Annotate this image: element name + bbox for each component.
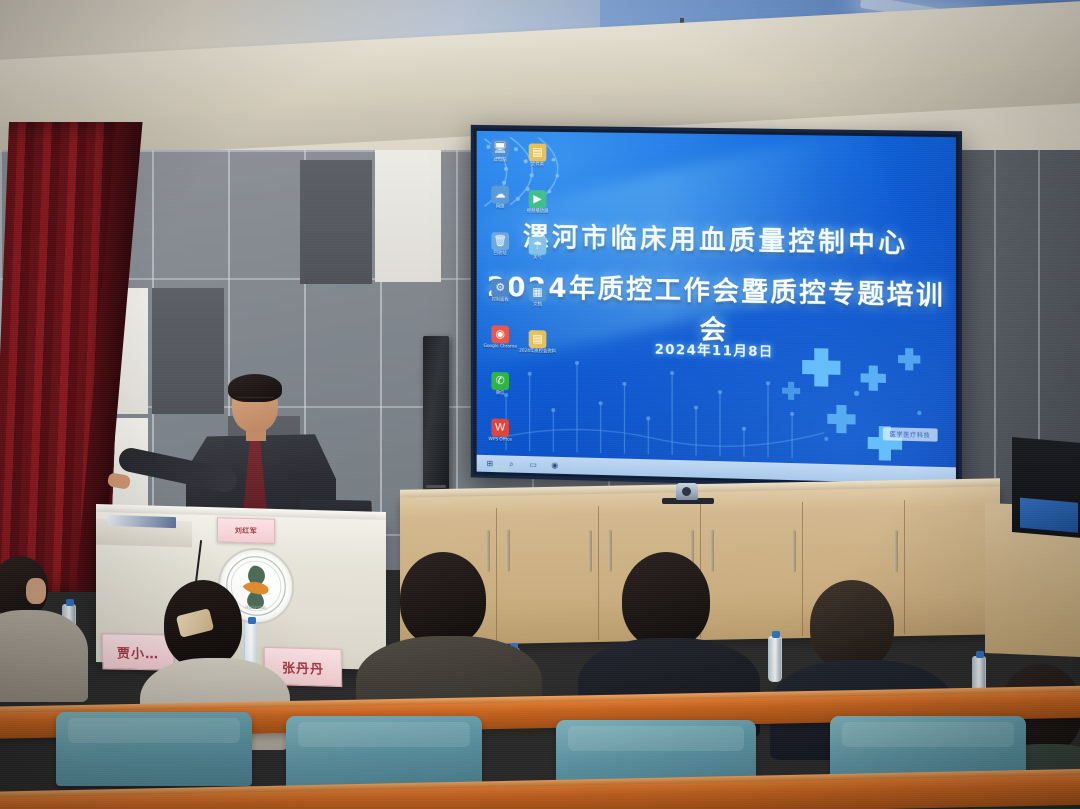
desktop-icon-glyph: 🗑 xyxy=(491,232,509,250)
projection-screen[interactable]: 漯河市临床用血质量控制中心 2024年质控工作会暨质控专题培训会 2024年11… xyxy=(471,125,962,491)
podium-nameplate: 刘红军 xyxy=(217,517,275,544)
person-face xyxy=(26,578,46,604)
desktop-icon[interactable]: ▤文件夹 xyxy=(518,143,557,187)
wall-panel-light xyxy=(375,150,441,282)
taskview-icon[interactable]: ▭ xyxy=(528,459,539,470)
desktop-icon-label: 微信 xyxy=(481,390,520,396)
desktop-icon-glyph: ▤ xyxy=(529,143,547,161)
desktop-icon[interactable]: ☂天气 xyxy=(518,237,557,281)
desktop-icon-label: 此电脑 xyxy=(481,158,520,164)
desktop-icon-glyph: ☁ xyxy=(491,186,509,204)
desktop-icon[interactable]: ▤2024年质控会资料 xyxy=(518,330,557,375)
podium-documents xyxy=(108,515,176,528)
desktop-icon[interactable]: 🗑回收站 xyxy=(481,232,520,276)
desktop-icon[interactable]: ✆微信 xyxy=(481,372,520,417)
desktop-icon-column-right: ▤文件夹▶视频播放器☂天气▦文档▤2024年质控会资料 xyxy=(518,143,557,377)
side-monitor xyxy=(1012,437,1080,538)
desktop-icon[interactable]: ☁网络 xyxy=(481,185,520,229)
audio-speaker-tower xyxy=(423,336,449,494)
desktop-icon-label: 天气 xyxy=(518,255,557,261)
desktop-icon-glyph: ☂ xyxy=(529,237,547,255)
desktop-icon-glyph: ▤ xyxy=(529,330,547,348)
slide-badge: 医学医疗科技 xyxy=(883,427,938,441)
desktop-icon-glyph: ▦ xyxy=(529,283,547,301)
presenter-glasses-icon xyxy=(236,397,274,405)
audience-chair xyxy=(286,716,482,790)
desktop-icon-glyph: ▶ xyxy=(529,190,547,208)
desktop-icon-glyph: ✆ xyxy=(491,372,509,390)
video-conference-camera-icon xyxy=(676,483,698,500)
person-body xyxy=(0,610,88,702)
presentation-slide: 漯河市临床用血质量控制中心 2024年质控工作会暨质控专题培训会 2024年11… xyxy=(477,131,956,485)
desktop-icon[interactable]: ▶视频播放器 xyxy=(518,190,557,234)
desktop-icon-label: WPS Office xyxy=(481,437,520,443)
start-button[interactable]: ⊞ xyxy=(484,458,495,469)
desktop-icon-label: 回收站 xyxy=(481,251,520,257)
person-head xyxy=(400,552,486,646)
desktop-icon-label: 网络 xyxy=(481,204,520,210)
audience-chair xyxy=(56,712,252,786)
desktop-icon-label: Google Chrome xyxy=(481,344,520,350)
desktop-icon-label: 文档 xyxy=(518,302,557,308)
audience-person xyxy=(366,552,534,716)
desktop-icon-column-left: 🖥此电脑☁网络🗑回收站⚙控制面板◉Google Chrome✆微信WWPS Of… xyxy=(481,139,520,485)
desktop-icon-glyph: 🖥 xyxy=(491,139,509,157)
desktop-icon-label: 视频播放器 xyxy=(518,209,557,215)
side-monitor-screen xyxy=(1020,498,1078,533)
desktop-icon-glyph: ⚙ xyxy=(491,279,509,297)
desktop-icon-label: 控制面板 xyxy=(481,297,520,303)
desktop-icon-glyph: ◉ xyxy=(491,325,509,343)
person-head xyxy=(810,580,894,670)
desktop-icon-glyph: W xyxy=(491,418,509,436)
desktop-icon-label: 2024年质控会资料 xyxy=(518,349,557,355)
conference-room-photo: 漯河市临床用血质量控制中心 2024年质控工作会暨质控专题培训会 2024年11… xyxy=(0,0,1080,809)
desktop-icon[interactable]: 🖥此电脑 xyxy=(481,139,520,183)
person-head xyxy=(622,552,710,648)
audience-person xyxy=(0,556,88,696)
wall-panel-dark xyxy=(300,160,372,284)
search-icon[interactable]: ⌕ xyxy=(506,459,517,470)
desktop-icon[interactable]: ◉Google Chrome xyxy=(481,325,520,369)
desktop-icon[interactable]: ⚙控制面板 xyxy=(481,279,520,323)
browser-icon[interactable]: ◉ xyxy=(549,460,560,471)
desktop-icon[interactable]: ▦文档 xyxy=(518,283,557,327)
desktop-icon-label: 文件夹 xyxy=(518,162,557,168)
